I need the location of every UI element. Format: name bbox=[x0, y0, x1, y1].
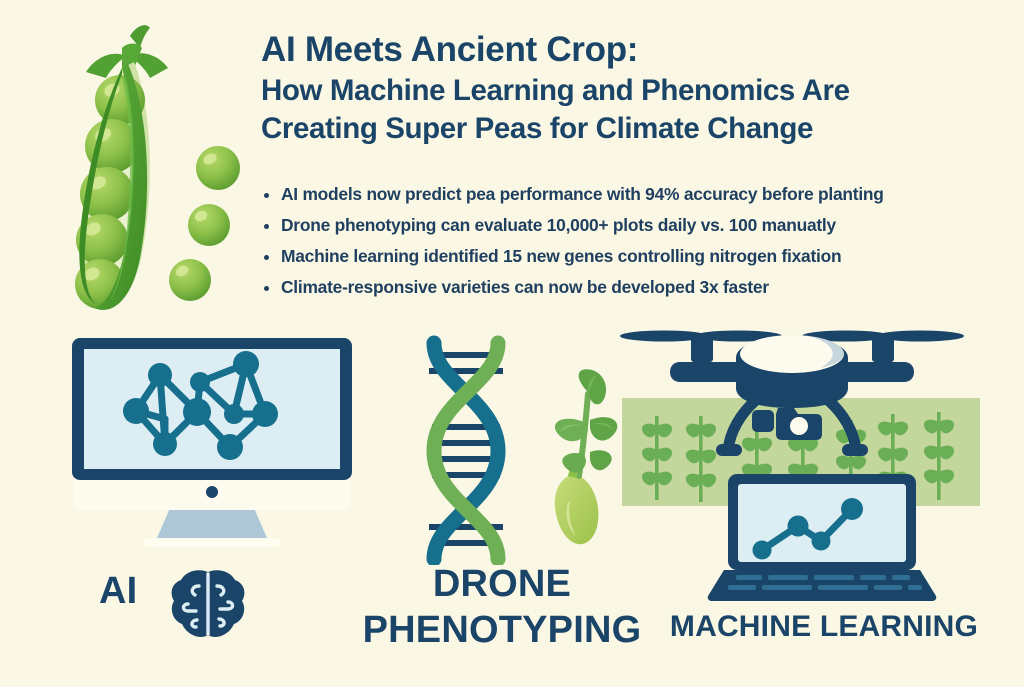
drone-camera bbox=[752, 408, 822, 440]
chart-point bbox=[753, 541, 772, 560]
page-title: AI Meets Ancient Crop: bbox=[261, 30, 981, 70]
quadcopter-drone bbox=[618, 322, 966, 462]
seedling-sprout bbox=[524, 368, 624, 568]
monitor-screen bbox=[84, 349, 340, 469]
caption-drone-line1: DRONE bbox=[433, 563, 571, 605]
chart-point bbox=[841, 498, 863, 520]
laptop-line-chart bbox=[706, 472, 938, 602]
monitor-shadow bbox=[144, 538, 280, 547]
desktop-monitor-neural-network bbox=[62, 332, 362, 562]
caption-machine-learning: MACHINE LEARNING bbox=[668, 612, 980, 642]
page-subtitle-line2: Creating Super Peas for Climate Change bbox=[261, 110, 981, 148]
chart-point bbox=[812, 532, 831, 551]
list-item: Climate-responsive varieties can now be … bbox=[261, 279, 986, 296]
list-item: Machine learning identified 15 new genes… bbox=[261, 248, 986, 265]
monitor-power-dot bbox=[206, 486, 218, 498]
drone-legs bbox=[728, 400, 756, 450]
chart-point bbox=[788, 516, 809, 537]
pea-pod-illustration bbox=[22, 18, 254, 318]
loose-peas bbox=[169, 146, 240, 301]
brain-icon bbox=[168, 566, 248, 642]
page-subtitle-line1: How Machine Learning and Phenomics Are bbox=[261, 72, 981, 110]
list-item: AI models now predict pea performance wi… bbox=[261, 186, 986, 203]
caption-drone-phenotyping: DRONE PHENOTYPING bbox=[352, 565, 652, 649]
caption-ai: AI bbox=[99, 572, 137, 610]
dna-double-helix bbox=[408, 333, 524, 565]
headline-block: AI Meets Ancient Crop: How Machine Learn… bbox=[261, 30, 981, 148]
infographic-canvas: AI Meets Ancient Crop: How Machine Learn… bbox=[0, 0, 1024, 687]
sprout-seed bbox=[555, 474, 599, 544]
monitor-stand bbox=[157, 508, 267, 538]
caption-drone-line2: PHENOTYPING bbox=[352, 611, 652, 649]
list-item: Drone phenotyping can evaluate 10,000+ p… bbox=[261, 217, 986, 234]
key-facts-list: AI models now predict pea performance wi… bbox=[261, 186, 986, 310]
